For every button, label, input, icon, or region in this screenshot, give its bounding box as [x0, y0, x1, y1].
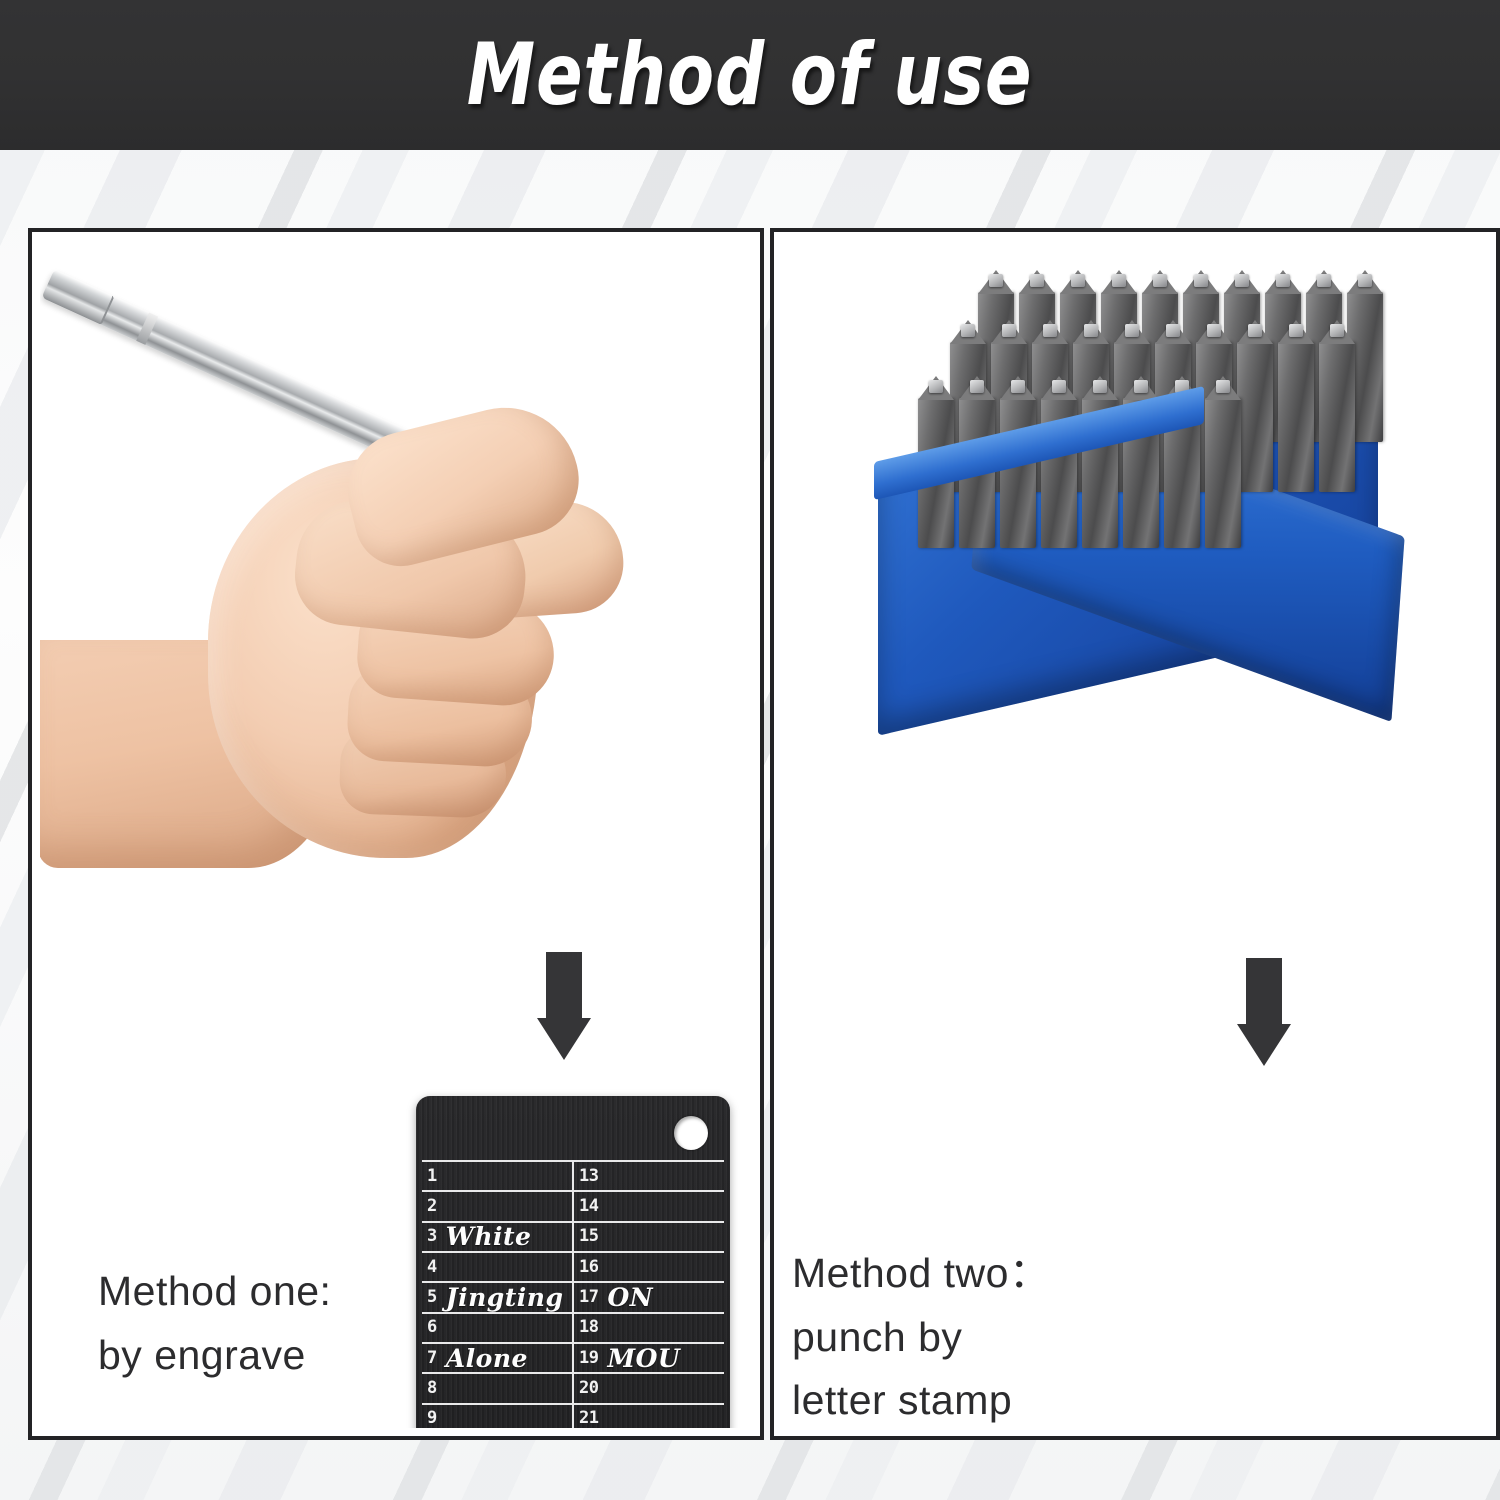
caption-line-2: by engrave	[98, 1324, 398, 1388]
row-value: ON	[607, 1285, 653, 1310]
scriber-cap	[42, 269, 115, 325]
row-number: 8	[427, 1380, 437, 1397]
row-number: 2	[427, 1198, 437, 1215]
table-row: 5Jingting	[422, 1281, 572, 1311]
table-row: 13	[574, 1160, 724, 1190]
row-number: 5	[427, 1289, 437, 1306]
caption-line-1: Method two：	[792, 1242, 1092, 1306]
caption-method-two: Method two： punch by letter stamp	[792, 1242, 1092, 1428]
table-row: 20	[574, 1372, 724, 1402]
punch-stamp	[1278, 342, 1314, 492]
caption-line-2: punch by	[792, 1306, 1092, 1370]
table-row: 18	[574, 1312, 724, 1342]
arrow-shaft	[1246, 958, 1282, 1024]
row-number: 16	[579, 1259, 598, 1276]
table-row: 2	[422, 1190, 572, 1220]
tag-column-left: 1 2 3White 4 5Jingting 6 7Alone 8 9 10 1…	[422, 1160, 574, 1428]
table-row: 21	[574, 1403, 724, 1428]
scriber-pen-icon	[42, 269, 410, 459]
row-number: 14	[579, 1198, 598, 1215]
row-number: 4	[427, 1259, 437, 1276]
row-number: 18	[579, 1319, 598, 1336]
row-number: 15	[579, 1228, 598, 1245]
tag-row-grid: 1 2 3White 4 5Jingting 6 7Alone 8 9 10 1…	[422, 1160, 724, 1428]
arrow-shaft	[546, 952, 582, 1018]
table-row: 16	[574, 1251, 724, 1281]
table-row: 7Alone	[422, 1342, 572, 1372]
page-title: Method of use	[467, 25, 1033, 125]
row-number: 20	[579, 1380, 598, 1397]
table-row: 4	[422, 1251, 572, 1281]
tag-column-right: 13 14 15 16 17ON 18 19MOU 20 21 22 23 24	[574, 1160, 724, 1428]
table-row: 17ON	[574, 1281, 724, 1311]
tag-hole-top-right	[674, 1116, 708, 1150]
row-number: 6	[427, 1319, 437, 1336]
arrow-head	[537, 1018, 591, 1060]
table-row: 6	[422, 1312, 572, 1342]
table-row: 1	[422, 1160, 572, 1190]
punch-stamp	[1205, 398, 1241, 548]
caption-method-one: Method one: by engrave	[98, 1260, 398, 1387]
caption-line-3: letter stamp	[792, 1369, 1092, 1428]
row-number: 7	[427, 1350, 437, 1367]
row-number: 13	[579, 1168, 598, 1185]
panel-method-two: Method two： punch by letter stamp 1 2 3 …	[770, 228, 1500, 1440]
row-value: Alone	[446, 1346, 528, 1371]
row-number: 19	[579, 1350, 598, 1367]
row-value: Jingting	[446, 1285, 564, 1310]
table-row: 19MOU	[574, 1342, 724, 1372]
row-value: MOU	[607, 1346, 680, 1371]
hand-with-scriber-photo	[48, 268, 708, 918]
scriber-band	[136, 313, 158, 345]
table-row: 8	[422, 1372, 572, 1402]
header-bar: Method of use	[0, 0, 1500, 150]
arrow-head	[1237, 1024, 1291, 1066]
metal-tag-engraved: 1 2 3White 4 5Jingting 6 7Alone 8 9 10 1…	[416, 1096, 730, 1428]
row-number: 21	[579, 1410, 598, 1427]
row-number: 17	[579, 1289, 598, 1306]
down-arrow-icon	[1237, 958, 1291, 1066]
caption-line-1: Method one:	[98, 1260, 398, 1324]
row-number: 1	[427, 1168, 437, 1185]
row-number: 3	[427, 1228, 437, 1245]
table-row: 15	[574, 1221, 724, 1251]
panel-method-one: Method one: by engrave 1 2 3White 4 5Jin…	[28, 228, 764, 1440]
table-row: 3White	[422, 1221, 572, 1251]
table-row: 9	[422, 1403, 572, 1428]
punch-stamp	[1000, 398, 1036, 548]
down-arrow-icon	[537, 952, 591, 1060]
row-value: White	[446, 1224, 532, 1249]
punch-stamp	[1319, 342, 1355, 492]
panel-left-inner: Method one: by engrave 1 2 3White 4 5Jin…	[40, 240, 752, 1428]
table-row: 14	[574, 1190, 724, 1220]
panel-right-inner: Method two： punch by letter stamp 1 2 3 …	[782, 240, 1488, 1428]
letter-punch-set-photo	[858, 248, 1484, 698]
row-number: 9	[427, 1410, 437, 1427]
